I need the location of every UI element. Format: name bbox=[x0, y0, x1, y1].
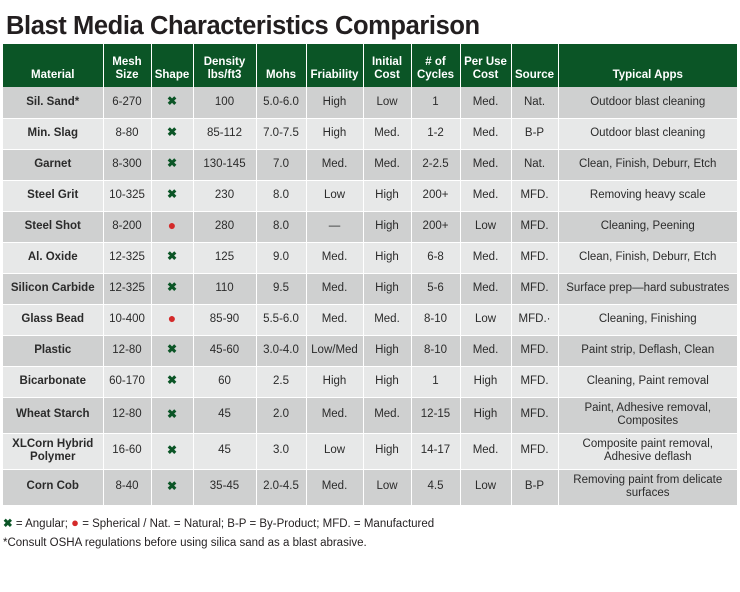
cell-mesh-size: 6-270 bbox=[103, 87, 151, 118]
cell-mesh-size: 8-80 bbox=[103, 118, 151, 149]
cell-source: MFD. bbox=[511, 335, 558, 366]
angular-shape-icon: ✖ bbox=[167, 95, 177, 107]
cell-density: 280 bbox=[193, 211, 256, 242]
angular-shape-icon: ✖ bbox=[167, 126, 177, 138]
cell-source: MFD. bbox=[511, 366, 558, 397]
cell-material: Steel Grit bbox=[3, 180, 103, 211]
cell-friability: Med. bbox=[306, 469, 363, 505]
spherical-icon: ● bbox=[71, 515, 79, 530]
cell-density: 45 bbox=[193, 397, 256, 433]
header-label-line1: Initial bbox=[372, 56, 402, 68]
cell-typical-apps: Removing heavy scale bbox=[558, 180, 737, 211]
cell-cycles: 1 bbox=[411, 87, 460, 118]
cell-typical-apps: Removing paint from delicate surfaces bbox=[558, 469, 737, 505]
spherical-shape-icon: ● bbox=[168, 218, 176, 232]
column-header-friability: Friability bbox=[306, 44, 363, 87]
cell-friability: Low bbox=[306, 180, 363, 211]
cell-cycles: 200+ bbox=[411, 211, 460, 242]
cell-shape: ✖ bbox=[151, 469, 193, 505]
header-label-line1: # of bbox=[425, 56, 445, 68]
cell-typical-apps: Cleaning, Paint removal bbox=[558, 366, 737, 397]
cell-shape: ✖ bbox=[151, 366, 193, 397]
cell-source: Nat. bbox=[511, 149, 558, 180]
cell-material: Plastic bbox=[3, 335, 103, 366]
cell-initial-cost: High bbox=[363, 180, 411, 211]
cell-per-use-cost: Med. bbox=[460, 335, 511, 366]
cell-cycles: 1-2 bbox=[411, 118, 460, 149]
cell-typical-apps: Cleaning, Peening bbox=[558, 211, 737, 242]
cell-mohs: 9.0 bbox=[256, 242, 306, 273]
cell-shape: ✖ bbox=[151, 273, 193, 304]
cell-material: Bicarbonate bbox=[3, 366, 103, 397]
cell-mesh-size: 12-80 bbox=[103, 397, 151, 433]
cell-source: MFD. bbox=[511, 242, 558, 273]
cell-density: 45 bbox=[193, 433, 256, 469]
cell-density: 35-45 bbox=[193, 469, 256, 505]
cell-cycles: 8-10 bbox=[411, 304, 460, 335]
cell-shape: ✖ bbox=[151, 180, 193, 211]
column-header-initial-cost: InitialCost bbox=[363, 44, 411, 87]
cell-mohs: 8.0 bbox=[256, 180, 306, 211]
header-label: Source bbox=[515, 69, 554, 81]
header-label-line1: Per Use bbox=[464, 56, 507, 68]
cell-shape: ✖ bbox=[151, 433, 193, 469]
cell-material: Corn Cob bbox=[3, 469, 103, 505]
cell-per-use-cost: Low bbox=[460, 469, 511, 505]
cell-source: MFD. bbox=[511, 211, 558, 242]
cell-mesh-size: 8-40 bbox=[103, 469, 151, 505]
cell-density: 110 bbox=[193, 273, 256, 304]
cell-density: 85-90 bbox=[193, 304, 256, 335]
cell-friability: Low bbox=[306, 433, 363, 469]
cell-shape: ✖ bbox=[151, 118, 193, 149]
table-row: Steel Grit10-325✖2308.0LowHigh200+Med.MF… bbox=[3, 180, 737, 211]
cell-initial-cost: High bbox=[363, 433, 411, 469]
header-label-line1: Density bbox=[204, 56, 246, 68]
cell-material: Al. Oxide bbox=[3, 242, 103, 273]
cell-typical-apps: Outdoor blast cleaning bbox=[558, 87, 737, 118]
table-row: Garnet8-300✖130-1457.0Med.Med.2-2.5Med.N… bbox=[3, 149, 737, 180]
cell-mohs: 5.5-6.0 bbox=[256, 304, 306, 335]
table-row: Wheat Starch12-80✖452.0Med.Med.12-15High… bbox=[3, 397, 737, 433]
cell-friability: Med. bbox=[306, 242, 363, 273]
cell-mohs: 8.0 bbox=[256, 211, 306, 242]
cell-shape: ● bbox=[151, 211, 193, 242]
column-header-source: Source bbox=[511, 44, 558, 87]
angular-shape-icon: ✖ bbox=[167, 188, 177, 200]
cell-typical-apps: Paint, Adhesive removal, Composites bbox=[558, 397, 737, 433]
cell-initial-cost: Low bbox=[363, 469, 411, 505]
cell-initial-cost: Med. bbox=[363, 397, 411, 433]
spherical-shape-icon: ● bbox=[168, 311, 176, 325]
cell-shape: ✖ bbox=[151, 242, 193, 273]
header-label-line2: Cost bbox=[473, 69, 499, 81]
cell-mohs: 2.0-4.5 bbox=[256, 469, 306, 505]
cell-per-use-cost: Med. bbox=[460, 118, 511, 149]
cell-shape: ● bbox=[151, 304, 193, 335]
legend-note: ✖ = Angular; ● = Spherical / Nat. = Natu… bbox=[3, 513, 737, 534]
table-row: Bicarbonate60-170✖602.5HighHigh1HighMFD.… bbox=[3, 366, 737, 397]
cell-mohs: 7.0 bbox=[256, 149, 306, 180]
cell-per-use-cost: Med. bbox=[460, 242, 511, 273]
cell-friability: Med. bbox=[306, 273, 363, 304]
cell-cycles: 5-6 bbox=[411, 273, 460, 304]
cell-per-use-cost: Low bbox=[460, 304, 511, 335]
cell-initial-cost: Med. bbox=[363, 149, 411, 180]
cell-mohs: 3.0-4.0 bbox=[256, 335, 306, 366]
column-header-shape: Shape bbox=[151, 44, 193, 87]
blast-media-table: Material MeshSize Shape Densitylbs/ft3 M… bbox=[3, 44, 737, 506]
cell-mesh-size: 12-80 bbox=[103, 335, 151, 366]
header-label-line2: Size bbox=[115, 69, 138, 81]
header-label: Friability bbox=[311, 69, 359, 81]
cell-material: XLCorn Hybrid Polymer bbox=[3, 433, 103, 469]
disclaimer-note: *Consult OSHA regulations before using s… bbox=[3, 534, 737, 553]
cell-per-use-cost: Med. bbox=[460, 87, 511, 118]
cell-material: Sil. Sand* bbox=[3, 87, 103, 118]
cell-source: MFD.· bbox=[511, 304, 558, 335]
cell-density: 60 bbox=[193, 366, 256, 397]
footer-notes: ✖ = Angular; ● = Spherical / Nat. = Natu… bbox=[3, 506, 737, 553]
table-row: Glass Bead10-400●85-905.5-6.0Med.Med.8-1… bbox=[3, 304, 737, 335]
cell-mesh-size: 8-300 bbox=[103, 149, 151, 180]
cell-material: Silicon Carbide bbox=[3, 273, 103, 304]
angular-shape-icon: ✖ bbox=[167, 250, 177, 262]
cell-typical-apps: Clean, Finish, Deburr, Etch bbox=[558, 149, 737, 180]
table-header: Material MeshSize Shape Densitylbs/ft3 M… bbox=[3, 44, 737, 87]
cell-mohs: 5.0-6.0 bbox=[256, 87, 306, 118]
column-header-mohs: Mohs bbox=[256, 44, 306, 87]
cell-material: Steel Shot bbox=[3, 211, 103, 242]
page-root: Blast Media Characteristics Comparison M… bbox=[0, 0, 740, 592]
cell-initial-cost: High bbox=[363, 211, 411, 242]
cell-typical-apps: Cleaning, Finishing bbox=[558, 304, 737, 335]
cell-mohs: 7.0-7.5 bbox=[256, 118, 306, 149]
angular-shape-icon: ✖ bbox=[167, 408, 177, 420]
column-header-mesh-size: MeshSize bbox=[103, 44, 151, 87]
legend-angular-text: = Angular; bbox=[13, 518, 72, 530]
table-row: Plastic12-80✖45-603.0-4.0Low/MedHigh8-10… bbox=[3, 335, 737, 366]
cell-per-use-cost: Med. bbox=[460, 149, 511, 180]
cell-friability: High bbox=[306, 118, 363, 149]
cell-mesh-size: 10-325 bbox=[103, 180, 151, 211]
cell-source: MFD. bbox=[511, 433, 558, 469]
table-body: Sil. Sand*6-270✖1005.0-6.0HighLow1Med.Na… bbox=[3, 87, 737, 505]
cell-initial-cost: Low bbox=[363, 87, 411, 118]
cell-source: MFD. bbox=[511, 273, 558, 304]
cell-density: 85-112 bbox=[193, 118, 256, 149]
cell-mesh-size: 10-400 bbox=[103, 304, 151, 335]
table-row: Al. Oxide12-325✖1259.0Med.High6-8Med.MFD… bbox=[3, 242, 737, 273]
angular-shape-icon: ✖ bbox=[167, 374, 177, 386]
header-label: Shape bbox=[155, 69, 190, 81]
cell-mesh-size: 16-60 bbox=[103, 433, 151, 469]
cell-per-use-cost: High bbox=[460, 397, 511, 433]
header-label: Material bbox=[31, 69, 74, 81]
cell-material: Wheat Starch bbox=[3, 397, 103, 433]
table-row: XLCorn Hybrid Polymer16-60✖453.0LowHigh1… bbox=[3, 433, 737, 469]
cell-initial-cost: Med. bbox=[363, 304, 411, 335]
table-row: Sil. Sand*6-270✖1005.0-6.0HighLow1Med.Na… bbox=[3, 87, 737, 118]
cell-typical-apps: Clean, Finish, Deburr, Etch bbox=[558, 242, 737, 273]
cell-initial-cost: High bbox=[363, 335, 411, 366]
cell-friability: High bbox=[306, 87, 363, 118]
cell-per-use-cost: Low bbox=[460, 211, 511, 242]
cell-mesh-size: 60-170 bbox=[103, 366, 151, 397]
table-row: Corn Cob8-40✖35-452.0-4.5Med.Low4.5LowB-… bbox=[3, 469, 737, 505]
cell-cycles: 4.5 bbox=[411, 469, 460, 505]
cell-friability: Low/Med bbox=[306, 335, 363, 366]
cell-cycles: 6-8 bbox=[411, 242, 460, 273]
column-header-cycles: # ofCycles bbox=[411, 44, 460, 87]
cell-mesh-size: 12-325 bbox=[103, 273, 151, 304]
cell-density: 100 bbox=[193, 87, 256, 118]
cell-cycles: 12-15 bbox=[411, 397, 460, 433]
cell-shape: ✖ bbox=[151, 87, 193, 118]
cell-per-use-cost: Med. bbox=[460, 180, 511, 211]
cell-material: Glass Bead bbox=[3, 304, 103, 335]
cell-typical-apps: Surface prep—hard subustrates bbox=[558, 273, 737, 304]
cell-density: 45-60 bbox=[193, 335, 256, 366]
angular-shape-icon: ✖ bbox=[167, 444, 177, 456]
table-row: Silicon Carbide12-325✖1109.5Med.High5-6M… bbox=[3, 273, 737, 304]
cell-source: MFD. bbox=[511, 397, 558, 433]
angular-shape-icon: ✖ bbox=[167, 281, 177, 293]
angular-icon: ✖ bbox=[3, 518, 13, 530]
cell-cycles: 8-10 bbox=[411, 335, 460, 366]
header-row: Material MeshSize Shape Densitylbs/ft3 M… bbox=[3, 44, 737, 87]
cell-per-use-cost: Med. bbox=[460, 433, 511, 469]
cell-density: 130-145 bbox=[193, 149, 256, 180]
cell-source: MFD. bbox=[511, 180, 558, 211]
cell-friability: Med. bbox=[306, 149, 363, 180]
cell-friability: High bbox=[306, 366, 363, 397]
cell-cycles: 1 bbox=[411, 366, 460, 397]
column-header-material: Material bbox=[3, 44, 103, 87]
column-header-density: Densitylbs/ft3 bbox=[193, 44, 256, 87]
cell-cycles: 14-17 bbox=[411, 433, 460, 469]
angular-shape-icon: ✖ bbox=[167, 157, 177, 169]
cell-source: B-P bbox=[511, 469, 558, 505]
angular-shape-icon: ✖ bbox=[167, 480, 177, 492]
cell-density: 125 bbox=[193, 242, 256, 273]
cell-cycles: 200+ bbox=[411, 180, 460, 211]
cell-source: Nat. bbox=[511, 87, 558, 118]
cell-cycles: 2-2.5 bbox=[411, 149, 460, 180]
cell-source: B-P bbox=[511, 118, 558, 149]
cell-typical-apps: Paint strip, Deflash, Clean bbox=[558, 335, 737, 366]
cell-friability: — bbox=[306, 211, 363, 242]
cell-material: Garnet bbox=[3, 149, 103, 180]
cell-mohs: 9.5 bbox=[256, 273, 306, 304]
header-label-line2: Cost bbox=[374, 69, 400, 81]
cell-material: Min. Slag bbox=[3, 118, 103, 149]
header-label-line1: Mesh bbox=[112, 56, 141, 68]
cell-shape: ✖ bbox=[151, 397, 193, 433]
cell-initial-cost: High bbox=[363, 366, 411, 397]
cell-density: 230 bbox=[193, 180, 256, 211]
table-row: Min. Slag8-80✖85-1127.0-7.5HighMed.1-2Me… bbox=[3, 118, 737, 149]
cell-friability: Med. bbox=[306, 304, 363, 335]
legend-spherical-text: = Spherical / Nat. = Natural; B-P = By-P… bbox=[79, 518, 434, 530]
cell-mohs: 2.5 bbox=[256, 366, 306, 397]
cell-mesh-size: 12-325 bbox=[103, 242, 151, 273]
cell-per-use-cost: High bbox=[460, 366, 511, 397]
cell-shape: ✖ bbox=[151, 335, 193, 366]
angular-shape-icon: ✖ bbox=[167, 343, 177, 355]
header-label-line2: lbs/ft3 bbox=[208, 69, 242, 81]
header-label-line2: Cycles bbox=[417, 69, 454, 81]
column-header-per-use-cost: Per UseCost bbox=[460, 44, 511, 87]
page-title: Blast Media Characteristics Comparison bbox=[0, 0, 740, 44]
cell-mesh-size: 8-200 bbox=[103, 211, 151, 242]
cell-per-use-cost: Med. bbox=[460, 273, 511, 304]
header-label: Mohs bbox=[266, 69, 296, 81]
cell-typical-apps: Outdoor blast cleaning bbox=[558, 118, 737, 149]
cell-friability: Med. bbox=[306, 397, 363, 433]
column-header-typical-apps: Typical Apps bbox=[558, 44, 737, 87]
cell-mohs: 2.0 bbox=[256, 397, 306, 433]
cell-shape: ✖ bbox=[151, 149, 193, 180]
table-row: Steel Shot8-200●2808.0—High200+LowMFD.Cl… bbox=[3, 211, 737, 242]
cell-initial-cost: High bbox=[363, 242, 411, 273]
cell-typical-apps: Composite paint removal, Adhesive deflas… bbox=[558, 433, 737, 469]
cell-mohs: 3.0 bbox=[256, 433, 306, 469]
cell-initial-cost: High bbox=[363, 273, 411, 304]
header-label: Typical Apps bbox=[613, 69, 683, 81]
cell-initial-cost: Med. bbox=[363, 118, 411, 149]
